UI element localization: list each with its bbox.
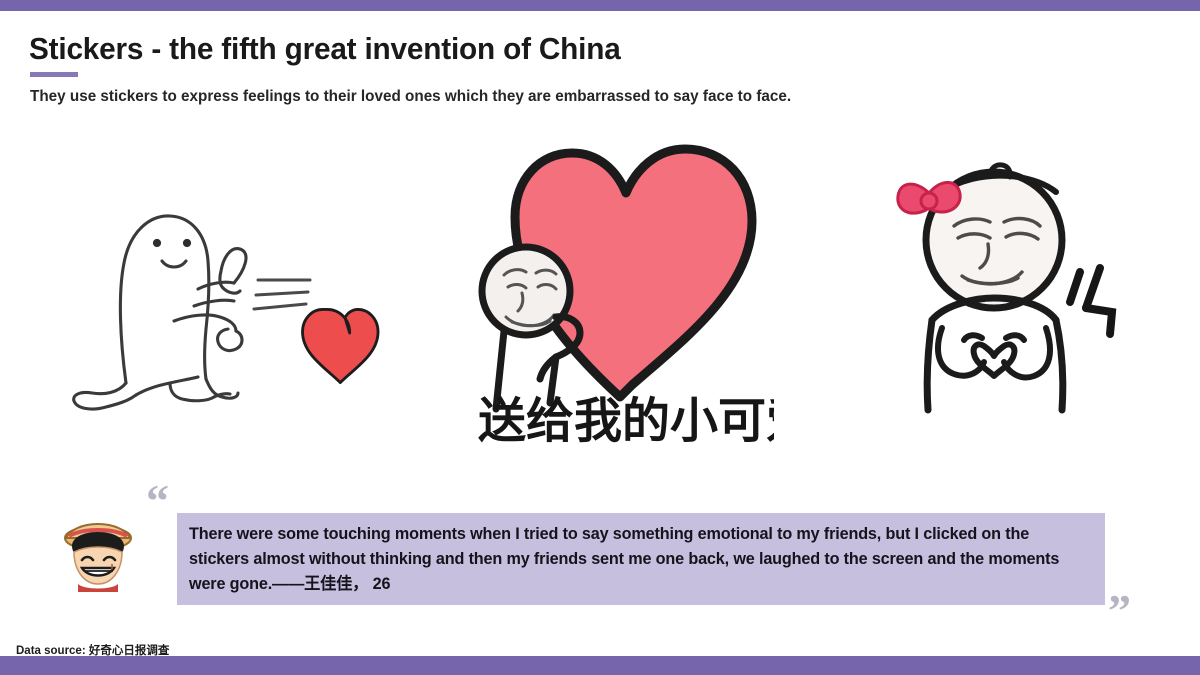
- arms-finger-heart: [938, 328, 1050, 377]
- motion-lines: [254, 280, 310, 309]
- body-outline: [927, 320, 1063, 410]
- blush-stroke-mark: [1070, 268, 1112, 334]
- cartoon-boy-avatar-icon: [56, 512, 140, 596]
- man-holding-big-heart-icon: 送给我的小可爱: [452, 141, 774, 452]
- heart-icon: [303, 309, 379, 382]
- bottom-accent-bar: [0, 656, 1200, 675]
- bow-icon: [898, 182, 960, 213]
- avatar: [56, 512, 140, 596]
- sticker-image-man-holding-heart: 送给我的小可爱: [452, 141, 774, 452]
- sticker-caption: 送给我的小可爱: [478, 393, 774, 449]
- page-title: Stickers - the fifth great invention of …: [29, 31, 621, 67]
- title-underline-accent: [30, 72, 78, 77]
- blob-figure-throwing-heart-icon: [58, 143, 388, 463]
- page-subtitle: They use stickers to express feelings to…: [30, 88, 791, 106]
- sticker-image-blob-throwing-heart: [58, 143, 388, 463]
- sticker-image-bow-finger-heart: [884, 152, 1138, 438]
- quote-open-mark: “: [146, 478, 169, 524]
- figure-with-bow-finger-heart-icon: [884, 152, 1138, 438]
- quote-text: There were some touching moments when I …: [189, 522, 1093, 597]
- head-circle: [482, 247, 570, 335]
- quote-box: There were some touching moments when I …: [177, 513, 1105, 605]
- quote-close-mark: ”: [1108, 588, 1131, 634]
- eye-left: [153, 239, 161, 247]
- eye-right: [183, 239, 191, 247]
- top-accent-bar: [0, 0, 1200, 11]
